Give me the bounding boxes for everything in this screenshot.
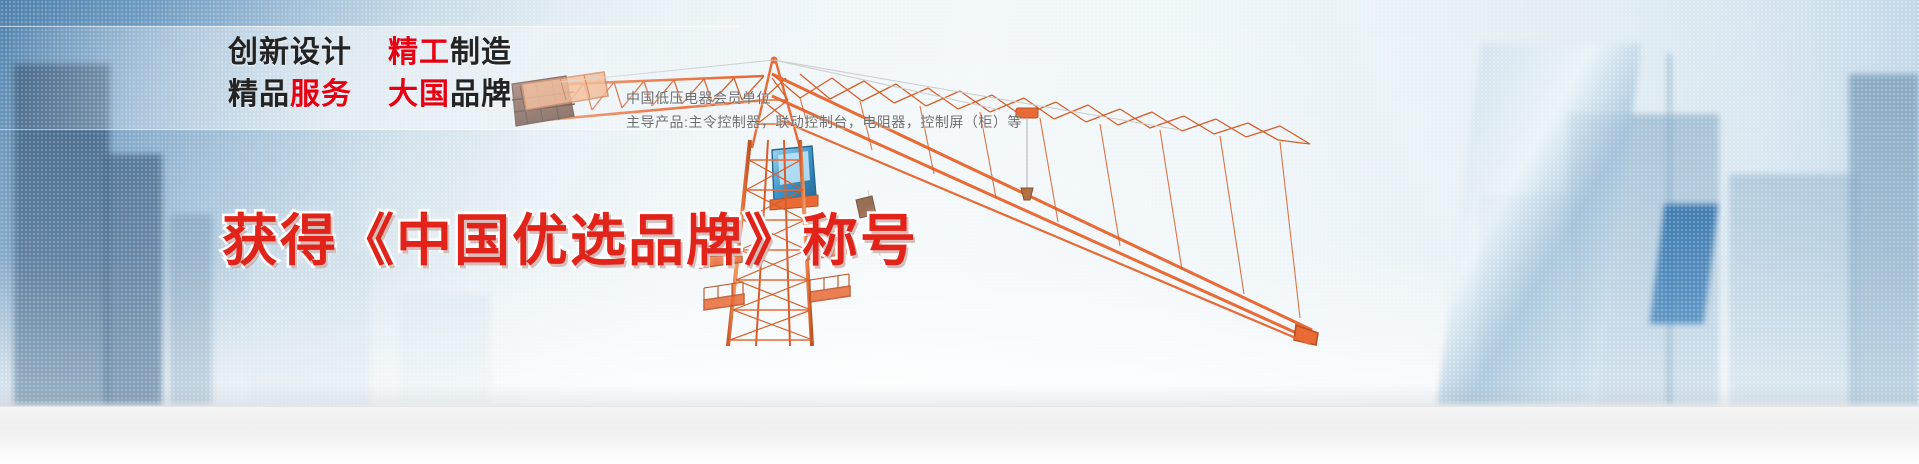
slogan-line-1: 创新设计 精工 制造 [228, 38, 512, 68]
slogan-service-red: 服务 [290, 80, 352, 110]
slogan-manufacturing-dark: 制造 [450, 38, 512, 68]
bottom-strip [0, 406, 1919, 464]
slogan-block: 创新设计 精工 制造 精品 服务 大国 品牌 [228, 38, 512, 110]
award-headline: 获得《中国优选品牌》称号 [222, 196, 918, 277]
slogan-line-2: 精品 服务 大国 品牌 [228, 80, 512, 110]
bottom-strip-shadow [0, 384, 1919, 406]
slogan-innovative-design: 创新设计 [228, 38, 352, 68]
slogan-quality-dark: 精品 [228, 80, 290, 110]
slogan-brand-dark: 品牌 [450, 80, 512, 110]
main-products-line: 主导产品:主令控制器，联动控制台，电阻器，控制屏（柜）等 [626, 110, 1022, 134]
slogan-fine-craft-red: 精工 [388, 38, 450, 68]
company-info-block: 中国低压电器会员单位 主导产品:主令控制器，联动控制台，电阻器，控制屏（柜）等 [626, 86, 1022, 134]
slogan-great-nation-red: 大国 [388, 80, 450, 110]
membership-line: 中国低压电器会员单位 [626, 86, 1022, 110]
promo-banner: 创新设计 精工 制造 精品 服务 大国 品牌 中国低压电器会员单位 主导产品:主… [0, 0, 1919, 464]
